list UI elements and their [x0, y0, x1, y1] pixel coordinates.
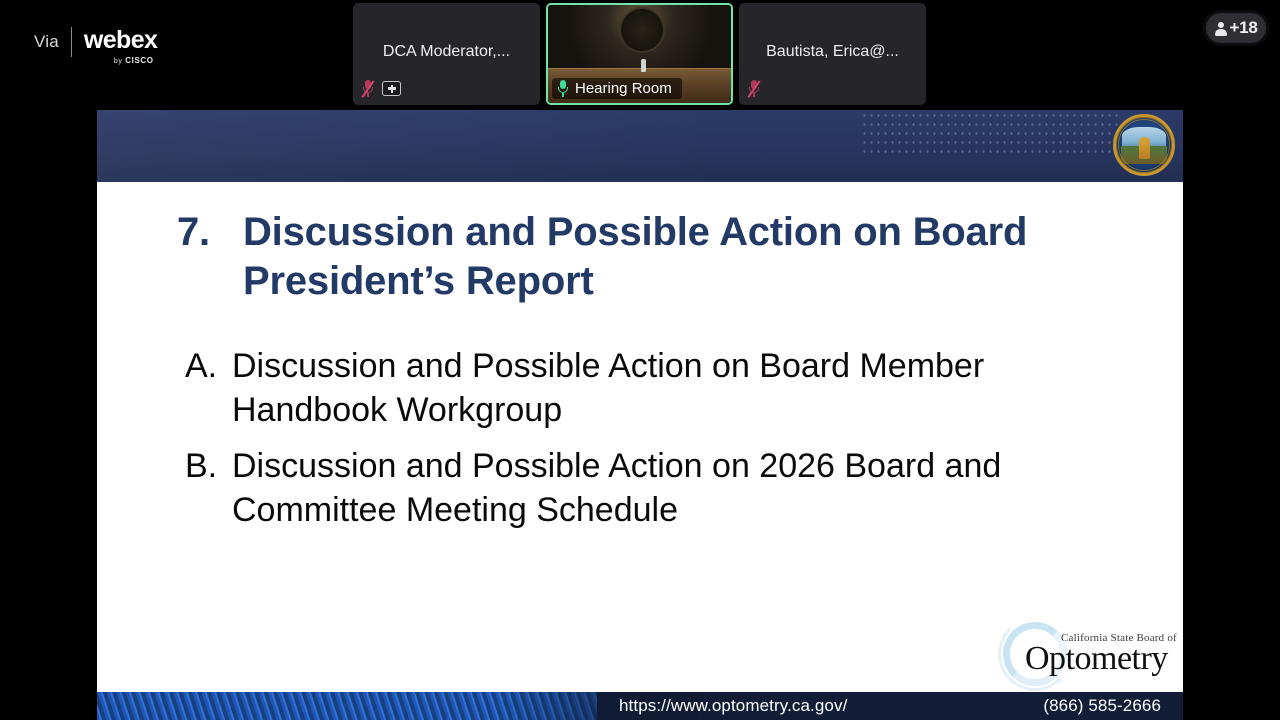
dot-grid-decoration — [861, 111, 1121, 153]
agenda-item-marker: B. — [185, 444, 232, 532]
mic-active-icon — [557, 80, 569, 97]
agenda-item-b: B. Discussion and Possible Action on 202… — [185, 444, 1145, 532]
brand-cisco-label: by CISCO — [114, 56, 157, 65]
footer-website-url: https://www.optometry.ca.gov/ — [619, 696, 847, 716]
header-gradient-overlay — [97, 110, 737, 182]
participant-name-label: DCA Moderator,... — [353, 43, 540, 61]
brand-divider — [71, 27, 72, 57]
participant-name-label: Hearing Room — [575, 80, 672, 97]
agenda-list: A. Discussion and Possible Action on Boa… — [185, 344, 1145, 544]
slide-footer-band: https://www.optometry.ca.gov/ (866) 585-… — [97, 692, 1183, 720]
shared-presentation-slide[interactable]: 7. Discussion and Possible Action on Boa… — [97, 110, 1183, 720]
participant-count-label: +18 — [1230, 18, 1258, 38]
optometry-board-logo: California State Board of Optometry — [997, 616, 1169, 692]
logo-title: Optometry — [1025, 640, 1168, 678]
participant-count-badge[interactable]: +18 — [1203, 10, 1269, 46]
active-speaker-label: Hearing Room — [552, 78, 682, 99]
participant-tile-dca-moderator[interactable]: DCA Moderator,... — [353, 3, 540, 105]
share-screen-icon — [382, 81, 401, 96]
water-bottle — [641, 59, 646, 72]
webex-brand-logo: Via webex by CISCO — [34, 28, 157, 62]
slide-title-text: Discussion and Possible Action on Board … — [243, 208, 1107, 306]
california-state-seal-icon — [1113, 114, 1175, 176]
agenda-item-text: Discussion and Possible Action on Board … — [232, 344, 1145, 432]
participant-status-badges — [748, 80, 760, 97]
agenda-item-a: A. Discussion and Possible Action on Boa… — [185, 344, 1145, 432]
participant-tile-bautista-erica[interactable]: Bautista, Erica@... — [739, 3, 926, 105]
mic-muted-icon — [362, 80, 374, 97]
brand-by-label: by — [114, 58, 123, 65]
brand-text-group: webex by CISCO — [84, 28, 157, 65]
brand-webex-label: webex — [84, 28, 157, 53]
person-icon — [1215, 22, 1227, 35]
slide-title: 7. Discussion and Possible Action on Boa… — [177, 208, 1107, 306]
slide-content-area: 7. Discussion and Possible Action on Boa… — [97, 182, 1183, 720]
footer-phone-number: (866) 585-2666 — [1043, 696, 1161, 716]
mic-muted-icon — [748, 80, 760, 97]
webex-top-bar: Via webex by CISCO DCA Moderator,... — [0, 0, 1280, 108]
brand-via-label: Via — [34, 28, 59, 56]
brand-vendor-label: CISCO — [125, 56, 153, 65]
participant-tile-strip: DCA Moderator,... He — [353, 3, 926, 105]
participant-name-label: Bautista, Erica@... — [739, 43, 926, 61]
participant-tile-hearing-room[interactable]: Hearing Room — [546, 3, 733, 105]
participant-status-badges — [362, 80, 401, 97]
agenda-item-text: Discussion and Possible Action on 2026 B… — [232, 444, 1145, 532]
wall-seal-decoration — [619, 7, 665, 53]
agenda-item-marker: A. — [185, 344, 232, 432]
slide-header-band — [97, 110, 1183, 182]
slide-title-number: 7. — [177, 208, 243, 306]
